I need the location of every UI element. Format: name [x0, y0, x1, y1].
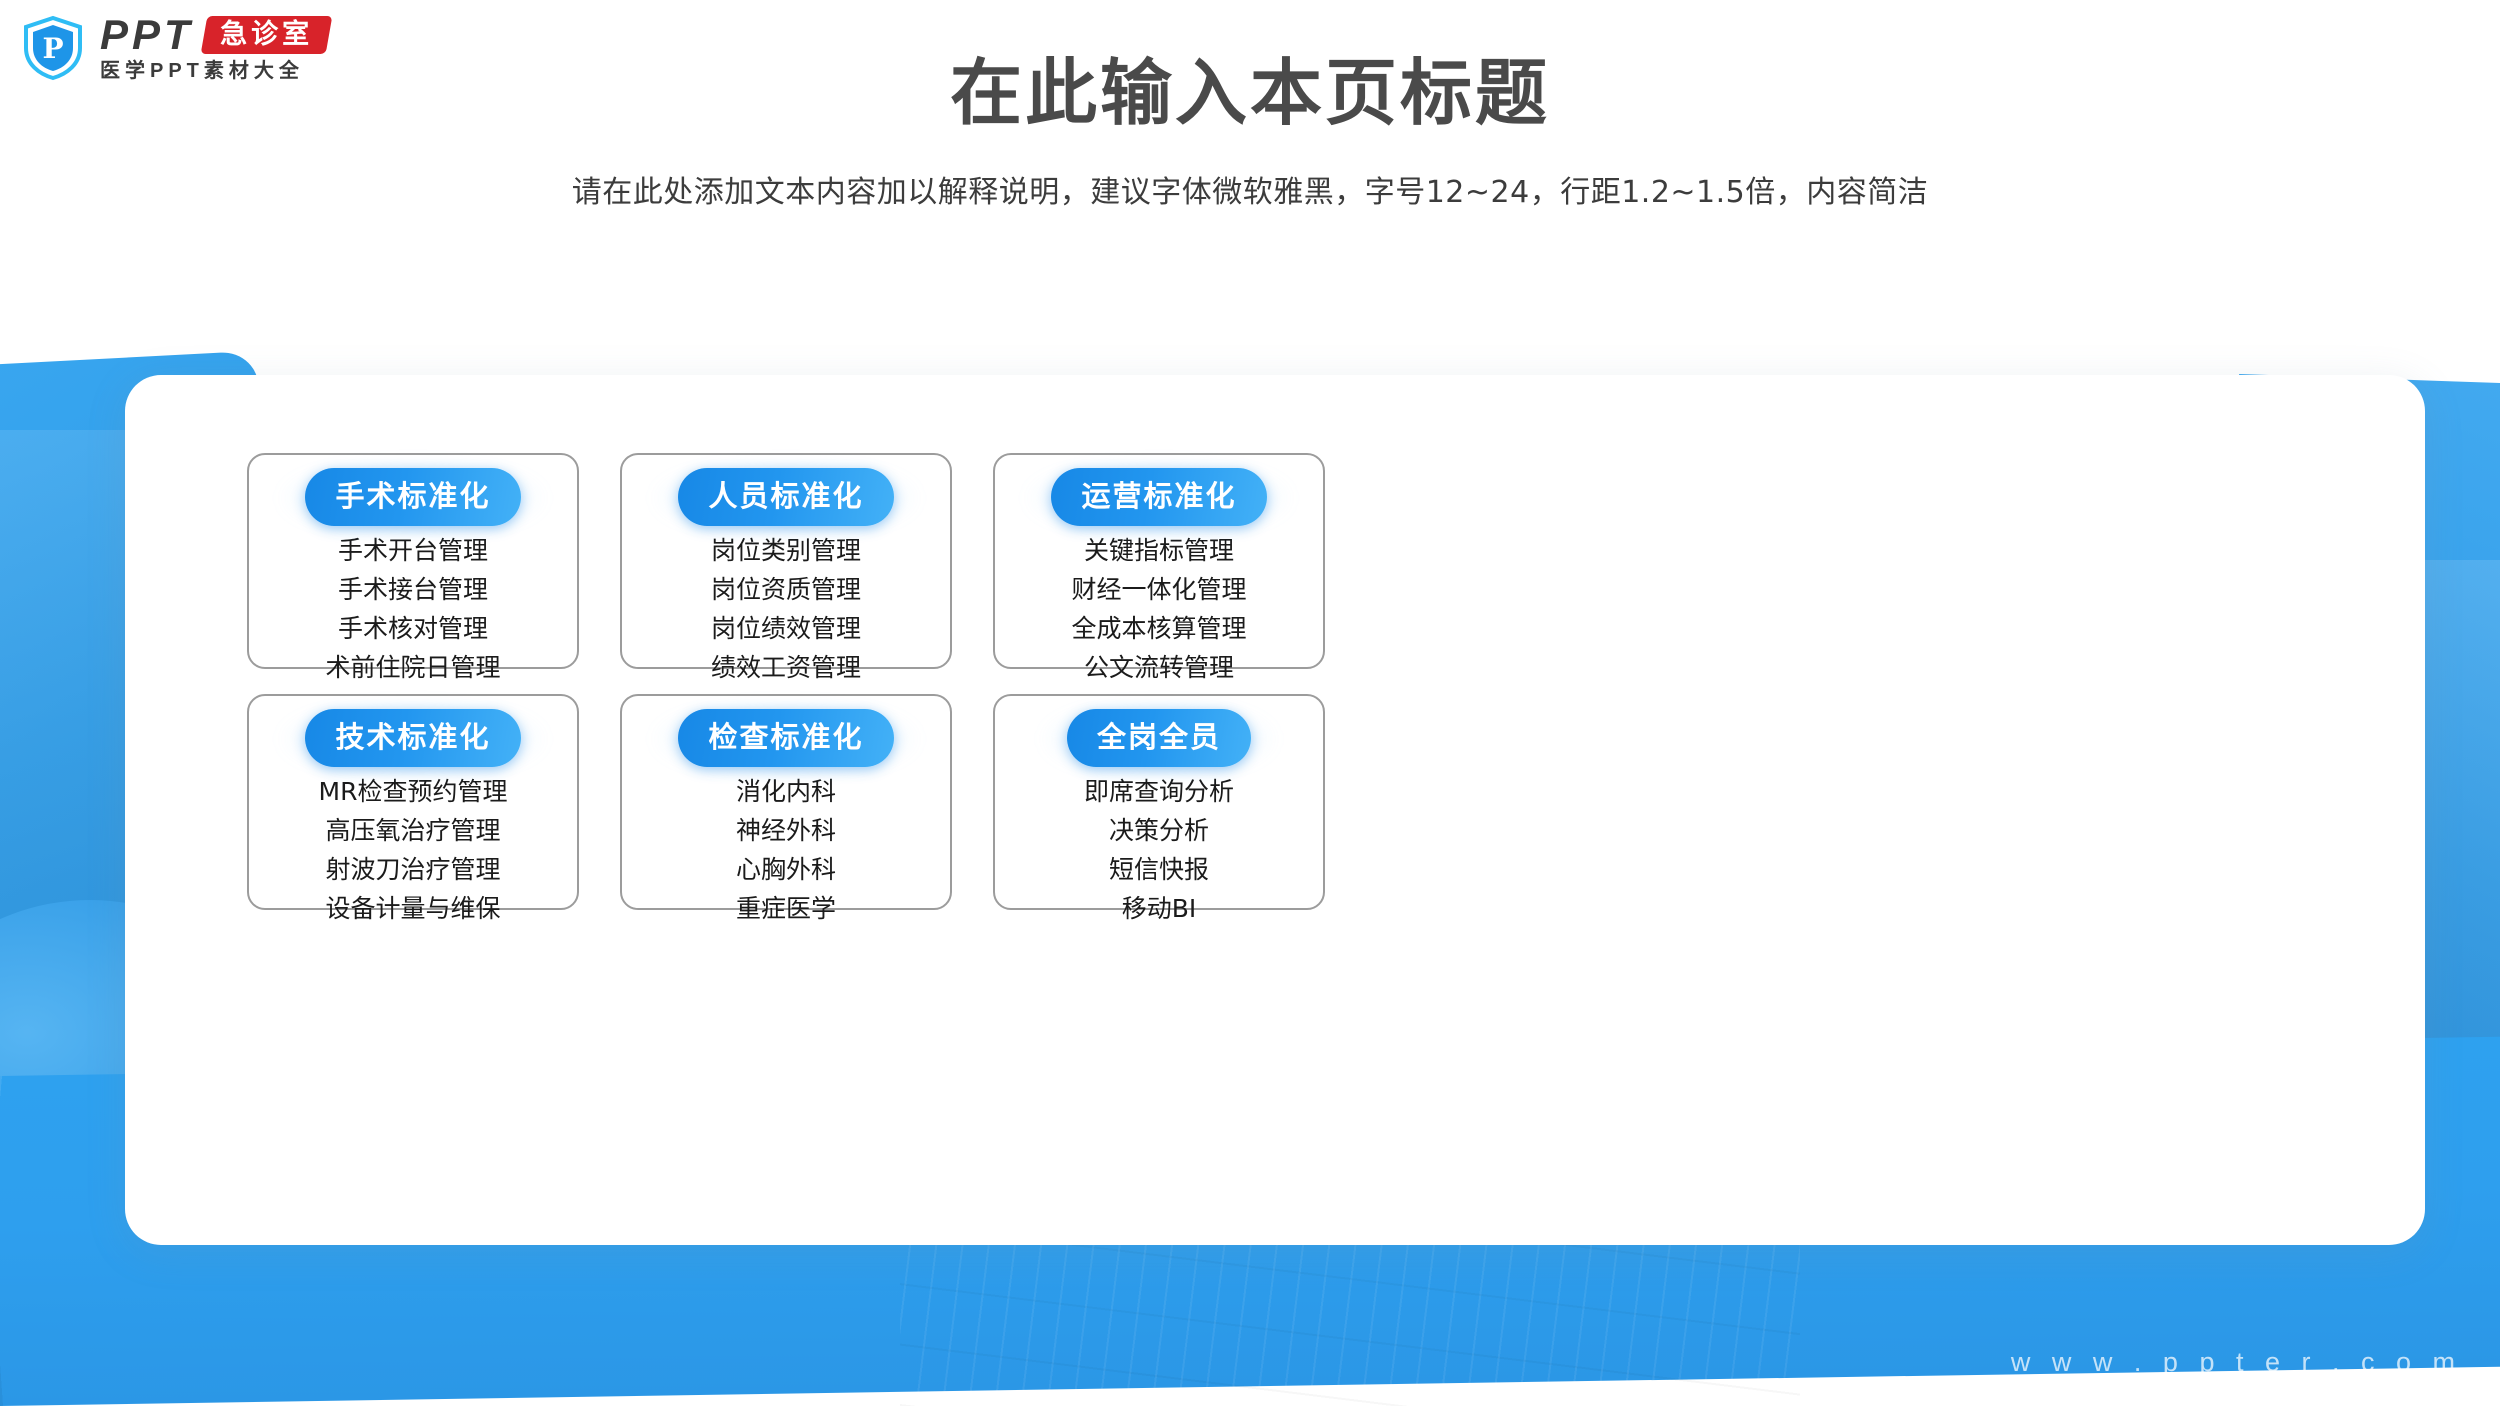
card-technology-standardization[interactable]: 技术标准化 MR检查预约管理 高压氧治疗管理 射波刀治疗管理 设备计量与维保: [247, 694, 579, 910]
list-item: 即席查询分析: [1084, 776, 1234, 808]
list-item: 公文流转管理: [1084, 652, 1234, 684]
card-item-list: 关键指标管理 财经一体化管理 全成本核算管理 公文流转管理: [1071, 535, 1246, 684]
list-item: 神经外科: [736, 815, 836, 847]
card-all-staff[interactable]: 全岗全员 即席查询分析 决策分析 短信快报 移动BI: [993, 694, 1325, 910]
list-item: 术前住院日管理: [325, 652, 500, 684]
list-item: 财经一体化管理: [1071, 574, 1246, 606]
list-item: 全成本核算管理: [1071, 613, 1246, 645]
list-item: 重症医学: [736, 893, 836, 925]
card-grid: 手术标准化 手术开台管理 手术接台管理 手术核对管理 术前住院日管理 人员标准化…: [247, 453, 1325, 910]
card-personnel-standardization[interactable]: 人员标准化 岗位类别管理 岗位资质管理 岗位绩效管理 绩效工资管理: [620, 453, 952, 669]
list-item: 岗位绩效管理: [711, 613, 861, 645]
list-item: 岗位类别管理: [711, 535, 861, 567]
list-item: 设备计量与维保: [325, 893, 500, 925]
list-item: 手术开台管理: [338, 535, 488, 567]
list-item: 射波刀治疗管理: [325, 854, 500, 886]
list-item: 心胸外科: [736, 854, 836, 886]
brand-name-row: PPT 急诊室: [100, 14, 329, 56]
card-title: 技术标准化: [305, 709, 520, 767]
content-panel: 手术标准化 手术开台管理 手术接台管理 手术核对管理 术前住院日管理 人员标准化…: [125, 375, 2425, 1245]
card-title: 手术标准化: [305, 468, 520, 526]
brand-name: PPT: [100, 14, 194, 56]
card-item-list: 岗位类别管理 岗位资质管理 岗位绩效管理 绩效工资管理: [711, 535, 861, 684]
list-item: 移动BI: [1122, 893, 1197, 925]
list-item: 决策分析: [1109, 815, 1209, 847]
card-title-pill-wrap: 人员标准化: [678, 481, 893, 513]
brand-badge-label: 急诊室: [220, 21, 313, 48]
page-header: P PPT 急诊室 医学PPT素材大全 在此输入本页标题 请在此处添加文本内容加…: [0, 0, 2500, 211]
svg-text:P: P: [42, 32, 63, 65]
page-title: 在此输入本页标题: [0, 0, 2500, 139]
card-title-pill-wrap: 技术标准化: [305, 722, 520, 754]
list-item: 手术接台管理: [338, 574, 488, 606]
list-item: 高压氧治疗管理: [325, 815, 500, 847]
brand-logo: P PPT 急诊室 医学PPT素材大全: [22, 14, 329, 81]
card-title-pill-wrap: 手术标准化: [305, 481, 520, 513]
list-item: 绩效工资管理: [711, 652, 861, 684]
card-title: 人员标准化: [678, 468, 893, 526]
card-title-pill-wrap: 运营标准化: [1051, 481, 1266, 513]
page-subtitle: 请在此处添加文本内容加以解释说明，建议字体微软雅黑，字号12~24，行距1.2~…: [0, 167, 2500, 211]
card-title-pill-wrap: 全岗全员: [1067, 722, 1251, 754]
card-item-list: MR检查预约管理 高压氧治疗管理 射波刀治疗管理 设备计量与维保: [319, 776, 508, 925]
card-title-pill-wrap: 检查标准化: [678, 722, 893, 754]
card-title: 运营标准化: [1051, 468, 1266, 526]
site-watermark: w w w . p p t e r . c o m: [2011, 1347, 2462, 1378]
card-item-list: 消化内科 神经外科 心胸外科 重症医学: [736, 776, 836, 925]
card-title: 检查标准化: [678, 709, 893, 767]
brand-tagline: 医学PPT素材大全: [100, 61, 329, 81]
list-item: MR检查预约管理: [319, 776, 508, 808]
list-item: 消化内科: [736, 776, 836, 808]
card-item-list: 即席查询分析 决策分析 短信快报 移动BI: [1084, 776, 1234, 925]
list-item: 关键指标管理: [1084, 535, 1234, 567]
card-item-list: 手术开台管理 手术接台管理 手术核对管理 术前住院日管理: [325, 535, 500, 684]
brand-wordmark: PPT 急诊室 医学PPT素材大全: [100, 14, 329, 81]
card-examination-standardization[interactable]: 检查标准化 消化内科 神经外科 心胸外科 重症医学: [620, 694, 952, 910]
shield-icon: P: [22, 15, 84, 81]
list-item: 手术核对管理: [338, 613, 488, 645]
card-title: 全岗全员: [1067, 709, 1251, 767]
list-item: 短信快报: [1109, 854, 1209, 886]
card-surgery-standardization[interactable]: 手术标准化 手术开台管理 手术接台管理 手术核对管理 术前住院日管理: [247, 453, 579, 669]
list-item: 岗位资质管理: [711, 574, 861, 606]
brand-badge: 急诊室: [200, 16, 332, 54]
card-operations-standardization[interactable]: 运营标准化 关键指标管理 财经一体化管理 全成本核算管理 公文流转管理: [993, 453, 1325, 669]
